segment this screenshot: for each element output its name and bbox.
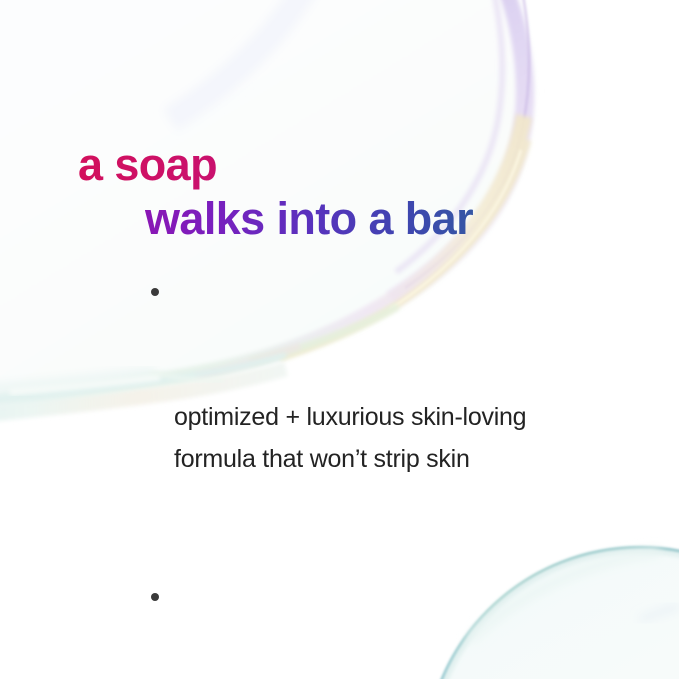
benefits-list: optimized + luxurious skin-loving formul… <box>146 270 566 679</box>
bullet-dot-icon <box>151 288 159 296</box>
product-feature-card: a soap walks into a bar optimized + luxu… <box>0 0 679 679</box>
headline-line-1: a soap <box>78 138 638 192</box>
list-item: leaves your skin feeling soft + moisturi… <box>146 575 566 679</box>
headline-line-2: walks into a bar <box>145 192 638 246</box>
list-item: optimized + luxurious skin-loving formul… <box>146 270 566 564</box>
list-item-label: optimized + luxurious skin-loving formul… <box>174 396 566 480</box>
card-content: a soap walks into a bar optimized + luxu… <box>0 0 679 679</box>
page-title: a soap walks into a bar <box>78 138 638 246</box>
bullet-dot-icon <box>151 593 159 601</box>
